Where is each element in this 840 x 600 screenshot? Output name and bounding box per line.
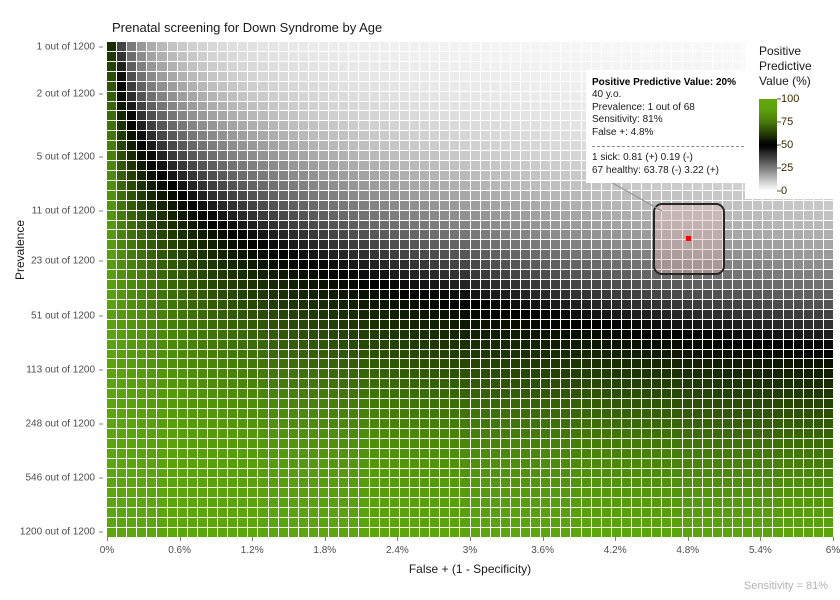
heatmap-cell: [188, 191, 197, 200]
heatmap-cell: [814, 240, 823, 249]
heatmap-cell: [410, 181, 419, 190]
heatmap-cell: [551, 469, 560, 478]
heatmap-cell: [440, 478, 449, 487]
heatmap-cell: [218, 399, 227, 408]
heatmap-cell: [390, 320, 399, 329]
heatmap-cell: [370, 300, 379, 309]
heatmap-cell: [188, 528, 197, 537]
heatmap-cell: [683, 399, 692, 408]
heatmap-cell: [258, 290, 267, 299]
heatmap-cell: [571, 350, 580, 359]
heatmap-cell: [208, 102, 217, 111]
heatmap-cell: [471, 459, 480, 468]
heatmap-cell: [511, 449, 520, 458]
heatmap-cell: [157, 270, 166, 279]
heatmap-cell: [773, 478, 782, 487]
heatmap-cell: [763, 290, 772, 299]
heatmap-cell: [733, 399, 742, 408]
heatmap-cell: [743, 459, 752, 468]
heatmap-cell: [248, 498, 257, 507]
heatmap-cell: [198, 260, 207, 269]
heatmap-cell: [359, 161, 368, 170]
heatmap-cell: [571, 191, 580, 200]
heatmap-cell: [501, 171, 510, 180]
heatmap-cell: [814, 459, 823, 468]
heatmap-cell: [299, 419, 308, 428]
heatmap-cell: [602, 280, 611, 289]
heatmap-cell: [723, 300, 732, 309]
heatmap-cell: [117, 171, 126, 180]
heatmap-cell: [370, 270, 379, 279]
heatmap-cell: [168, 42, 177, 51]
heatmap-cell: [178, 310, 187, 319]
heatmap-cell: [683, 518, 692, 527]
heatmap-cell: [370, 478, 379, 487]
heatmap-cell: [228, 42, 237, 51]
heatmap-cell: [410, 92, 419, 101]
heatmap-cell: [531, 260, 540, 269]
heatmap-cell: [359, 42, 368, 51]
heatmap-cell: [147, 280, 156, 289]
heatmap-cell: [784, 488, 793, 497]
heatmap-cell: [541, 151, 550, 160]
heatmap-cell: [400, 369, 409, 378]
heatmap-cell: [672, 419, 681, 428]
heatmap-cell: [430, 498, 439, 507]
heatmap-cell: [359, 290, 368, 299]
heatmap-cell: [481, 429, 490, 438]
legend-title: PositivePredictiveValue (%): [759, 44, 840, 89]
heatmap-cell: [309, 488, 318, 497]
heatmap-cell: [602, 42, 611, 51]
heatmap-cell: [541, 92, 550, 101]
heatmap-cell: [612, 260, 621, 269]
heatmap-cell: [107, 221, 116, 230]
heatmap-cell: [410, 230, 419, 239]
heatmap-cell: [289, 469, 298, 478]
heatmap-cell: [208, 92, 217, 101]
heatmap-cell: [380, 379, 389, 388]
heatmap-cell: [471, 211, 480, 220]
heatmap-cell: [370, 508, 379, 517]
heatmap-cell: [440, 102, 449, 111]
heatmap-cell: [127, 389, 136, 398]
heatmap-cell: [622, 300, 631, 309]
heatmap-cell: [400, 488, 409, 497]
heatmap-cell: [784, 389, 793, 398]
heatmap-cell: [168, 478, 177, 487]
heatmap-cell: [390, 389, 399, 398]
x-tick-mark-4: [397, 537, 398, 541]
heatmap-cell: [400, 300, 409, 309]
heatmap-cell: [430, 82, 439, 91]
heatmap-cell: [430, 131, 439, 140]
heatmap-cell: [642, 320, 651, 329]
heatmap-cell: [541, 399, 550, 408]
heatmap-cell: [208, 221, 217, 230]
heatmap-cell: [541, 181, 550, 190]
heatmap-cell: [541, 121, 550, 130]
heatmap-cell: [198, 340, 207, 349]
heatmap-cell: [723, 528, 732, 537]
heatmap-cell: [370, 439, 379, 448]
heatmap-cell: [662, 409, 671, 418]
y-tick-label-546: 546 out of 1200: [25, 473, 95, 484]
heatmap-cell: [218, 320, 227, 329]
heatmap-cell: [157, 300, 166, 309]
heatmap-cell: [248, 459, 257, 468]
heatmap-cell: [592, 230, 601, 239]
heatmap-cell: [188, 320, 197, 329]
heatmap-cell: [359, 439, 368, 448]
heatmap-cell: [157, 181, 166, 190]
heatmap-cell: [147, 161, 156, 170]
heatmap-cell: [380, 340, 389, 349]
heatmap-cell: [713, 379, 722, 388]
heatmap-cell: [551, 260, 560, 269]
heatmap-cell: [279, 429, 288, 438]
heatmap-cell: [228, 498, 237, 507]
heatmap-cell: [258, 111, 267, 120]
heatmap-cell: [824, 389, 833, 398]
heatmap-cell: [228, 429, 237, 438]
heatmap-cell: [127, 82, 136, 91]
heatmap-cell: [238, 221, 247, 230]
heatmap-cell: [582, 211, 591, 220]
heatmap-cell: [309, 230, 318, 239]
heatmap-cell: [541, 518, 550, 527]
heatmap-cell: [592, 439, 601, 448]
heatmap-cell: [582, 320, 591, 329]
heatmap-cell: [319, 121, 328, 130]
heatmap-cell: [339, 290, 348, 299]
heatmap-cell: [672, 379, 681, 388]
heatmap-cell: [541, 111, 550, 120]
heatmap-cell: [491, 62, 500, 71]
heatmap-cell: [248, 191, 257, 200]
heatmap-cell: [814, 320, 823, 329]
heatmap-cell: [147, 62, 156, 71]
heatmap-cell: [178, 121, 187, 130]
heatmap-cell: [491, 498, 500, 507]
heatmap-cell: [481, 72, 490, 81]
heatmap-cell: [501, 498, 510, 507]
heatmap-cell: [228, 72, 237, 81]
heatmap-cell: [299, 270, 308, 279]
heatmap-cell: [592, 508, 601, 517]
heatmap-cell: [319, 409, 328, 418]
heatmap-cell: [632, 211, 641, 220]
heatmap-cell: [309, 369, 318, 378]
heatmap-cell: [390, 42, 399, 51]
heatmap-cell: [531, 478, 540, 487]
heatmap-cell: [410, 240, 419, 249]
heatmap-cell: [228, 478, 237, 487]
heatmap-cell: [672, 498, 681, 507]
heatmap-cell: [380, 191, 389, 200]
heatmap-cell: [319, 290, 328, 299]
heatmap-cell: [248, 151, 257, 160]
heatmap-cell: [127, 121, 136, 130]
heatmap-cell: [784, 429, 793, 438]
heatmap-cell: [289, 161, 298, 170]
heatmap-cell: [471, 290, 480, 299]
heatmap-cell: [117, 191, 126, 200]
heatmap-cell: [400, 528, 409, 537]
heatmap-cell: [521, 290, 530, 299]
heatmap-cell: [410, 300, 419, 309]
heatmap-cell: [127, 151, 136, 160]
heatmap-cell: [501, 518, 510, 527]
heatmap-cell: [733, 290, 742, 299]
heatmap-cell: [349, 82, 358, 91]
heatmap-cell: [107, 498, 116, 507]
heatmap-cell: [107, 260, 116, 269]
heatmap-cell: [481, 498, 490, 507]
heatmap-cell: [208, 62, 217, 71]
heatmap-cell: [349, 42, 358, 51]
heatmap-cell: [804, 528, 813, 537]
heatmap-cell: [460, 171, 469, 180]
heatmap-cell: [269, 350, 278, 359]
heatmap-cell: [713, 399, 722, 408]
heatmap-cell: [137, 280, 146, 289]
heatmap-cell: [491, 250, 500, 259]
heatmap-cell: [481, 449, 490, 458]
heatmap-cell: [683, 528, 692, 537]
heatmap-cell: [309, 469, 318, 478]
heatmap-cell: [228, 280, 237, 289]
heatmap-cell: [794, 439, 803, 448]
heatmap-cell: [652, 469, 661, 478]
heatmap-cell: [137, 449, 146, 458]
heatmap-cell: [440, 498, 449, 507]
y-tick-label-2: 2 out of 1200: [37, 89, 95, 100]
heatmap-cell: [168, 310, 177, 319]
heatmap-cell: [622, 42, 631, 51]
heatmap-cell: [410, 102, 419, 111]
heatmap-cell: [218, 439, 227, 448]
heatmap-cell: [511, 439, 520, 448]
heatmap-cell: [258, 141, 267, 150]
heatmap-cell: [238, 399, 247, 408]
heatmap-cell: [137, 369, 146, 378]
x-tick-mark-6: [543, 537, 544, 541]
heatmap-cell: [521, 478, 530, 487]
heatmap-cell: [814, 409, 823, 418]
heatmap-cell: [561, 518, 570, 527]
heatmap-cell: [410, 201, 419, 210]
heatmap-cell: [440, 409, 449, 418]
heatmap-cell: [491, 121, 500, 130]
heatmap-cell: [147, 102, 156, 111]
heatmap-cell: [198, 300, 207, 309]
heatmap-cell: [299, 181, 308, 190]
heatmap-cell: [511, 131, 520, 140]
heatmap-cell: [218, 201, 227, 210]
heatmap-cell: [289, 250, 298, 259]
heatmap-cell: [117, 151, 126, 160]
heatmap-cell: [258, 201, 267, 210]
heatmap-cell: [420, 171, 429, 180]
heatmap-cell: [733, 459, 742, 468]
heatmap-cell: [390, 469, 399, 478]
heatmap-cell: [612, 300, 621, 309]
heatmap-cell: [652, 310, 661, 319]
heatmap-cell: [541, 260, 550, 269]
heatmap-cell: [541, 230, 550, 239]
heatmap-cell: [440, 518, 449, 527]
heatmap-cell: [339, 340, 348, 349]
heatmap-cell: [511, 201, 520, 210]
heatmap-cell: [541, 270, 550, 279]
heatmap-cell: [521, 379, 530, 388]
heatmap-cell: [582, 280, 591, 289]
heatmap-cell: [450, 211, 459, 220]
heatmap-cell: [784, 409, 793, 418]
heatmap-cell: [481, 250, 490, 259]
heatmap-cell: [794, 260, 803, 269]
heatmap-cell: [642, 250, 651, 259]
heatmap-cell: [299, 359, 308, 368]
heatmap-cell: [168, 62, 177, 71]
heatmap-cell: [157, 290, 166, 299]
heatmap-cell: [309, 52, 318, 61]
heatmap-cell: [662, 488, 671, 497]
heatmap-cell: [218, 429, 227, 438]
heatmap-cell: [804, 201, 813, 210]
heatmap-cell: [763, 280, 772, 289]
heatmap-cell: [359, 478, 368, 487]
heatmap-cell: [491, 270, 500, 279]
heatmap-cell: [238, 211, 247, 220]
heatmap-cell: [743, 528, 752, 537]
heatmap-cell: [157, 350, 166, 359]
heatmap-cell: [188, 151, 197, 160]
heatmap-cell: [582, 399, 591, 408]
heatmap-cell: [733, 389, 742, 398]
heatmap-cell: [723, 369, 732, 378]
heatmap-cell: [561, 280, 570, 289]
heatmap-cell: [501, 42, 510, 51]
heatmap-cell: [582, 250, 591, 259]
heatmap-cell: [188, 469, 197, 478]
heatmap-cell: [157, 211, 166, 220]
heatmap-cell: [804, 508, 813, 517]
heatmap-cell: [269, 191, 278, 200]
heatmap-cell: [531, 498, 540, 507]
heatmap-cell: [602, 340, 611, 349]
heatmap-cell: [501, 389, 510, 398]
heatmap-cell: [410, 280, 419, 289]
heatmap-cell: [400, 518, 409, 527]
heatmap-cell: [370, 72, 379, 81]
heatmap-cell: [208, 359, 217, 368]
heatmap-cell: [794, 270, 803, 279]
heatmap-cell: [440, 191, 449, 200]
heatmap-cell: [450, 42, 459, 51]
heatmap-cell: [147, 141, 156, 150]
heatmap-cell: [359, 181, 368, 190]
heatmap-cell: [672, 320, 681, 329]
heatmap-cell: [693, 320, 702, 329]
heatmap-cell: [440, 379, 449, 388]
heatmap-cell: [400, 498, 409, 507]
heatmap-cell: [460, 469, 469, 478]
annotation-age: 40 y.o.: [592, 89, 744, 102]
heatmap-cell: [258, 102, 267, 111]
heatmap-cell: [269, 330, 278, 339]
heatmap-cell: [329, 469, 338, 478]
heatmap-cell: [329, 399, 338, 408]
heatmap-cell: [430, 340, 439, 349]
heatmap-cell: [400, 240, 409, 249]
heatmap-cell: [188, 409, 197, 418]
heatmap-cell: [238, 230, 247, 239]
heatmap-cell: [632, 280, 641, 289]
heatmap-cell: [420, 191, 429, 200]
heatmap-cell: [824, 221, 833, 230]
heatmap-cell: [188, 171, 197, 180]
heatmap-cell: [248, 280, 257, 289]
heatmap-cell: [753, 300, 762, 309]
heatmap-cell: [471, 419, 480, 428]
heatmap-cell: [339, 498, 348, 507]
annotation-sensitivity: Sensitivity: 81%: [592, 114, 744, 127]
heatmap-cell: [339, 260, 348, 269]
heatmap-cell: [521, 280, 530, 289]
heatmap-cell: [440, 359, 449, 368]
heatmap-cell: [329, 379, 338, 388]
heatmap-cell: [743, 221, 752, 230]
heatmap-cell: [571, 369, 580, 378]
heatmap-cell: [672, 310, 681, 319]
heatmap-cell: [753, 221, 762, 230]
heatmap-cell: [289, 52, 298, 61]
heatmap-cell: [178, 518, 187, 527]
heatmap-cell: [612, 191, 621, 200]
heatmap-cell: [157, 82, 166, 91]
heatmap-cell: [460, 488, 469, 497]
heatmap-cell: [541, 459, 550, 468]
heatmap-cell: [602, 320, 611, 329]
heatmap-cell: [309, 419, 318, 428]
heatmap-cell: [157, 230, 166, 239]
heatmap-cell: [117, 102, 126, 111]
heatmap-cell: [319, 429, 328, 438]
heatmap-cell: [521, 270, 530, 279]
heatmap-cell: [117, 82, 126, 91]
heatmap-cell: [571, 498, 580, 507]
heatmap-cell: [460, 131, 469, 140]
heatmap-cell: [612, 389, 621, 398]
heatmap-cell: [168, 131, 177, 140]
heatmap-cell: [551, 330, 560, 339]
heatmap-cell: [733, 350, 742, 359]
heatmap-cell: [491, 141, 500, 150]
heatmap-cell: [794, 359, 803, 368]
heatmap-cell: [511, 92, 520, 101]
heatmap-cell: [450, 52, 459, 61]
heatmap-cell: [773, 488, 782, 497]
y-axis-tick-labels: 1 out of 12002 out of 12005 out of 12001…: [0, 42, 103, 537]
heatmap-cell: [471, 111, 480, 120]
heatmap-cell: [319, 280, 328, 289]
heatmap-cell: [824, 469, 833, 478]
heatmap-cell: [319, 528, 328, 537]
heatmap-cell: [258, 230, 267, 239]
heatmap-cell: [238, 379, 247, 388]
